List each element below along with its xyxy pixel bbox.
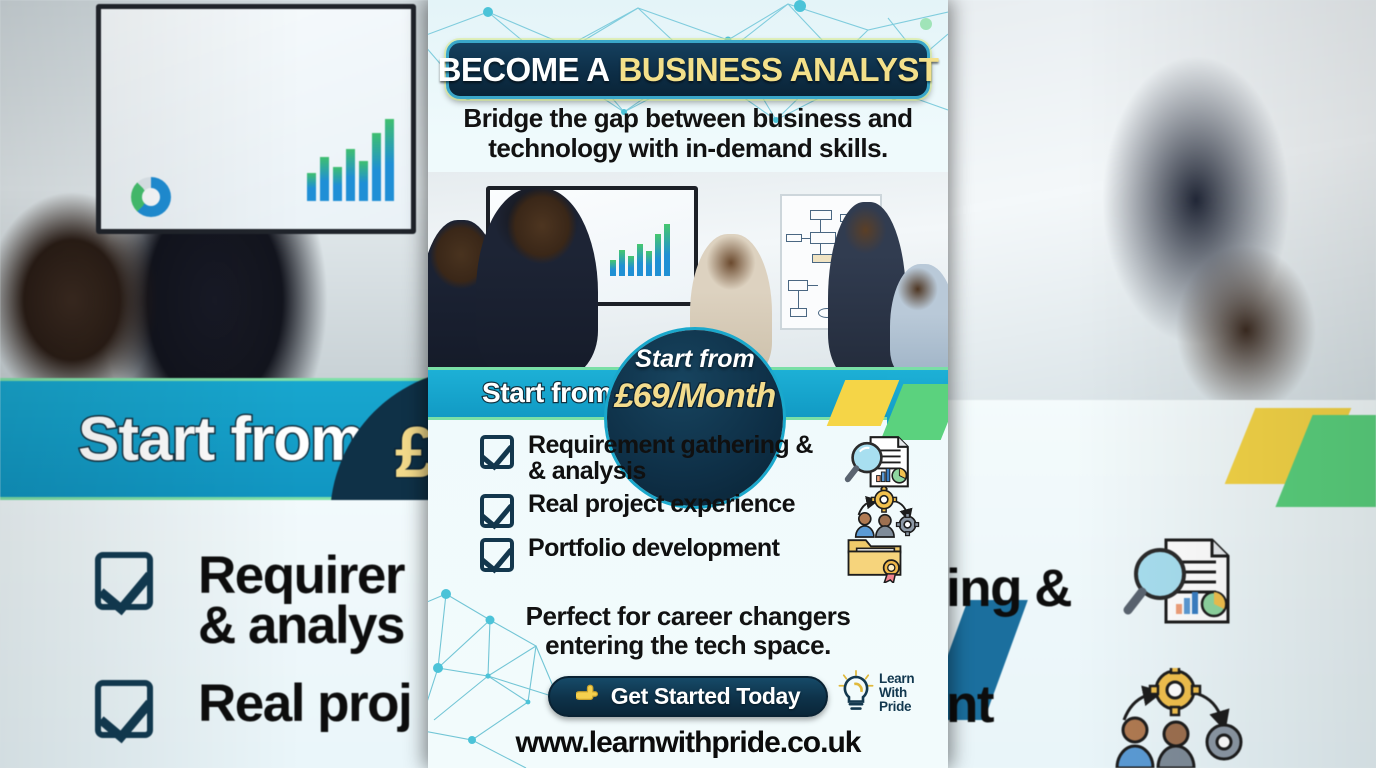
headline-part-gold: BUSINESS ANALYST — [618, 51, 938, 89]
logo-line-2: With — [879, 685, 907, 700]
price-start-from-label: Start from — [607, 345, 783, 374]
pointing-hand-icon — [576, 683, 602, 710]
headline-part-white: BECOME A — [438, 51, 610, 89]
band-start-from-label: Start from — [482, 377, 612, 409]
feature-item-requirement-gathering: Requirement gathering & & analysis — [428, 432, 948, 484]
closing-copy: Perfect for career changers entering the… — [450, 602, 926, 660]
get-started-button[interactable]: Get Started Today — [548, 676, 828, 717]
bg-team-gears-icon — [1100, 668, 1250, 768]
subheadline-line-1: Bridge the gap between business and — [450, 104, 926, 134]
subheadline: Bridge the gap between business and tech… — [450, 104, 926, 163]
hero-person-5 — [890, 264, 948, 378]
closing-line-1: Perfect for career changers — [450, 602, 926, 631]
learn-with-pride-logo[interactable]: Learn With Pride — [838, 664, 942, 722]
bg-checkbox-icon — [95, 552, 153, 610]
headline-badge: BECOME A BUSINESS ANALYST — [446, 40, 930, 99]
feature-label-line-1: Portfolio development — [528, 535, 779, 561]
bg-checkbox-icon — [95, 680, 153, 738]
poster-card: BECOME A BUSINESS ANALYST Bridge the gap… — [428, 0, 948, 768]
logo-line-1: Learn — [879, 671, 914, 686]
bg-left-photo — [0, 0, 430, 378]
checkbox-icon — [480, 494, 514, 528]
folder-award-icon — [844, 529, 906, 583]
lightbulb-icon — [838, 670, 874, 717]
bg-document-magnifier-icon — [1120, 528, 1240, 638]
feature-item-real-project-experience: Real project experience — [428, 491, 948, 528]
feature-label-line-1: Requirement gathering & — [528, 431, 813, 459]
feature-label-line-1: Real project experience — [528, 491, 795, 517]
checkbox-icon — [480, 435, 514, 469]
cta-label: Get Started Today — [611, 683, 801, 710]
checkbox-icon — [480, 538, 514, 572]
bg-right-photo — [946, 0, 1376, 400]
subheadline-line-2: technology with in-demand skills. — [450, 134, 926, 164]
feature-list: Requirement gathering & & analysis — [428, 432, 948, 579]
closing-line-2: entering the tech space. — [450, 631, 926, 660]
price-amount: £69/Month — [599, 377, 791, 416]
feature-label-line-2: & analysis — [528, 457, 646, 485]
website-url[interactable]: www.learnwithpride.co.uk — [446, 726, 930, 760]
hero-person-2 — [476, 188, 598, 378]
logo-line-3: Pride — [879, 699, 911, 714]
bg-dashboard-screen — [96, 4, 416, 234]
feature-item-portfolio-development: Portfolio development — [428, 535, 948, 572]
